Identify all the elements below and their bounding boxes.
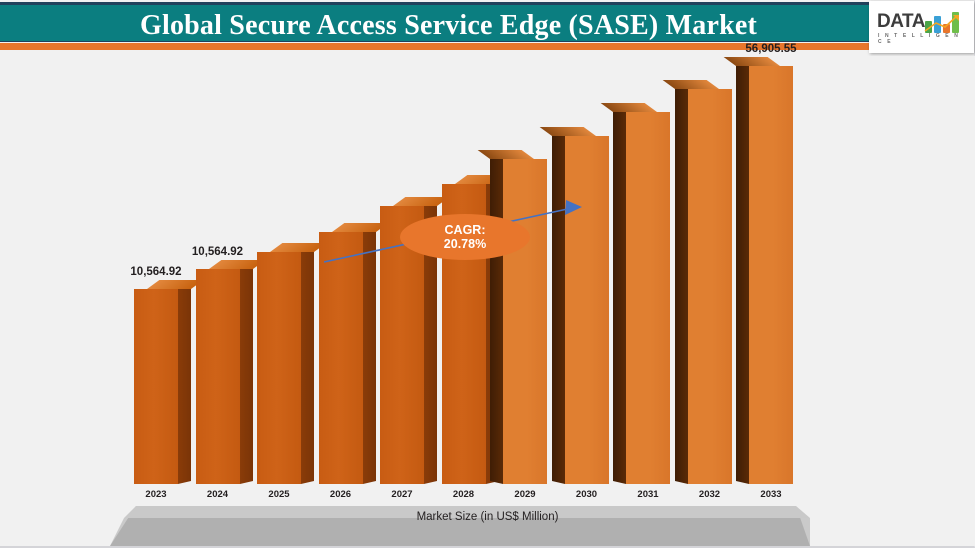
- bar-front-face: [257, 252, 301, 484]
- bar-side-face: [240, 266, 253, 484]
- bar-2025[interactable]: [257, 252, 301, 484]
- x-tick-2026: 2026: [306, 489, 376, 500]
- x-tick-2030: 2030: [552, 489, 622, 500]
- bar-front-face: [134, 289, 178, 484]
- cagr-badge: CAGR: 20.78%: [400, 214, 530, 260]
- page-title: Global Secure Access Service Edge (SASE)…: [0, 5, 897, 47]
- bar-top-face: [478, 150, 534, 159]
- bar-front-face: [565, 136, 609, 484]
- bar-side-face: [613, 109, 626, 484]
- bar-value-label-2033: 56,905.55: [716, 43, 826, 55]
- bar-2031[interactable]: [626, 112, 670, 484]
- bar-2023[interactable]: [134, 289, 178, 484]
- x-tick-2033: 2033: [736, 489, 806, 500]
- x-tick-2029: 2029: [490, 489, 560, 500]
- logo-growth-arrow-icon: [923, 14, 963, 34]
- bar-side-face: [552, 133, 565, 484]
- x-tick-2027: 2027: [367, 489, 437, 500]
- x-tick-2032: 2032: [675, 489, 745, 500]
- bar-top-face: [539, 127, 595, 136]
- bar-front-face: [749, 66, 793, 484]
- cagr-label: CAGR:: [445, 223, 486, 237]
- logo-wordmark: DATA: [877, 11, 925, 33]
- x-tick-2031: 2031: [613, 489, 683, 500]
- bar-front-face: [196, 269, 240, 484]
- bar-top-face: [601, 103, 657, 112]
- x-tick-2028: 2028: [429, 489, 499, 500]
- bar-value-label-2023: 10,564.92: [101, 266, 211, 278]
- bar-side-face: [178, 286, 191, 484]
- logo-tagline: I N T E L L I G E N C E: [878, 33, 969, 45]
- bar-front-face: [626, 112, 670, 484]
- cagr-value: 20.78%: [444, 237, 486, 251]
- bar-top-face: [724, 57, 780, 66]
- header-teal-bar: Global Secure Access Service Edge (SASE)…: [0, 2, 897, 42]
- logo-inner: DATA I N T E L L I G E N C E: [877, 9, 969, 45]
- header-band: Global Secure Access Service Edge (SASE)…: [0, 0, 975, 56]
- bar-value-label-2024: 10,564.92: [163, 246, 273, 258]
- brand-logo[interactable]: DATA I N T E L L I G E N C E: [869, 1, 974, 53]
- bar-top-face: [662, 80, 718, 89]
- x-tick-2024: 2024: [183, 489, 253, 500]
- bar-side-face: [736, 63, 749, 484]
- bar-front-face: [688, 89, 732, 484]
- bar-2032[interactable]: [688, 89, 732, 484]
- x-tick-2023: 2023: [121, 489, 191, 500]
- bars-container: 10,564.9210,564.9256,905.55: [0, 56, 975, 546]
- bar-2024[interactable]: [196, 269, 240, 484]
- x-tick-2025: 2025: [244, 489, 314, 500]
- bar-2033[interactable]: [749, 66, 793, 484]
- x-axis-title: Market Size (in US$ Million): [0, 511, 975, 523]
- bar-side-face: [675, 86, 688, 484]
- bar-2030[interactable]: [565, 136, 609, 484]
- bar-side-face: [301, 249, 314, 484]
- chart-page: Global Secure Access Service Edge (SASE)…: [0, 0, 975, 548]
- chart-canvas: 10,564.9210,564.9256,905.55 CAGR: 20.78%…: [0, 56, 975, 546]
